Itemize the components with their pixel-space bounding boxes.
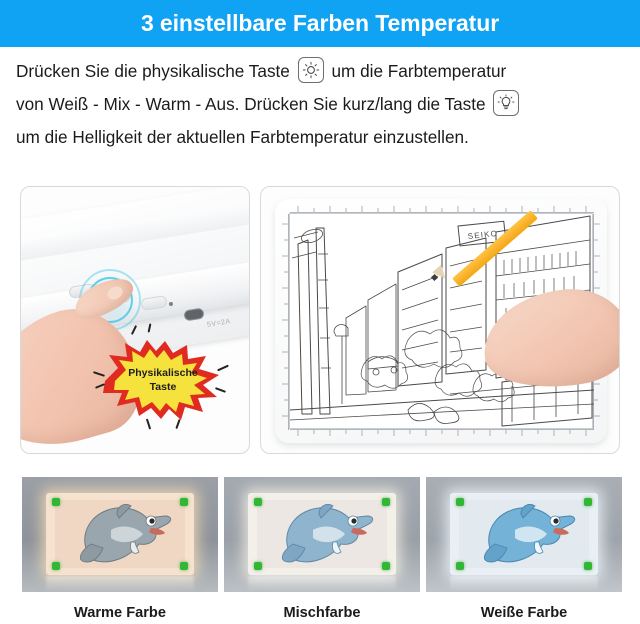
color-temperature-swatch-row: Warme Farbe bbox=[0, 477, 640, 624]
corner-clip bbox=[382, 562, 390, 570]
swatch-caption-white: Weiße Farbe bbox=[426, 605, 622, 621]
corner-clip bbox=[456, 562, 464, 570]
badge-text-line-2: Taste bbox=[150, 380, 177, 394]
description-line-1: Drücken Sie die physikalische Taste bbox=[16, 55, 632, 88]
banner-title: 3 einstellbare Farben Temperatur bbox=[141, 10, 499, 37]
dolphin-illustration bbox=[459, 500, 589, 568]
dolphin-illustration bbox=[55, 500, 185, 568]
header-banner: 3 einstellbare Farben Temperatur bbox=[0, 0, 640, 47]
swatch-photo-mixed bbox=[224, 477, 420, 592]
corner-clip bbox=[254, 498, 262, 506]
description-line-2-text-before: von Weiß - Mix - Warm - Aus. Drücken Sie… bbox=[16, 94, 486, 114]
lightbulb-icon bbox=[493, 90, 519, 116]
light-pad-mixed bbox=[248, 493, 396, 575]
ruler-bottom bbox=[290, 429, 594, 438]
light-pad-white bbox=[450, 493, 598, 575]
description-paragraph: Drücken Sie die physikalische Taste bbox=[16, 55, 632, 154]
description-line-2: von Weiß - Mix - Warm - Aus. Drücken Sie… bbox=[16, 88, 632, 121]
surface-reflection bbox=[46, 576, 194, 592]
description-line-1-text-after: um die Farbtemperatur bbox=[331, 61, 506, 81]
corner-clip bbox=[52, 498, 60, 506]
photo-panel-row: 5V=2A Physikalische Taste bbox=[0, 186, 640, 454]
corner-clip bbox=[180, 562, 188, 570]
corner-clip bbox=[584, 498, 592, 506]
swatch-caption-warm: Warme Farbe bbox=[22, 605, 218, 621]
swatch-mixed: Mischfarbe bbox=[224, 477, 420, 621]
corner-clip bbox=[584, 562, 592, 570]
ruler-top bbox=[290, 204, 594, 213]
physical-button-badge: Physikalische Taste bbox=[99, 337, 227, 423]
swatch-white: Weiße Farbe bbox=[426, 477, 622, 621]
badge-text: Physikalische Taste bbox=[99, 337, 227, 423]
corner-clip bbox=[254, 562, 262, 570]
dolphin-illustration bbox=[257, 500, 387, 568]
pad-inner-white bbox=[459, 500, 589, 568]
product-feature-image: 3 einstellbare Farben Temperatur Drücken… bbox=[0, 0, 640, 624]
corner-clip bbox=[456, 498, 464, 506]
corner-clip bbox=[180, 498, 188, 506]
description-line-3: um die Helligkeit der aktuellen Farbtemp… bbox=[16, 121, 632, 154]
surface-reflection bbox=[450, 576, 598, 592]
light-pad-warm bbox=[46, 493, 194, 575]
surface-reflection bbox=[248, 576, 396, 592]
swatch-photo-white bbox=[426, 477, 622, 592]
swatch-warm: Warme Farbe bbox=[22, 477, 218, 621]
swatch-caption-mixed: Mischfarbe bbox=[224, 605, 420, 621]
badge-text-line-1: Physikalische bbox=[128, 366, 197, 380]
pad-inner-warm bbox=[55, 500, 185, 568]
tracing-light-pad-photo: SEIKO bbox=[260, 186, 620, 454]
ruler-left bbox=[280, 214, 289, 430]
description-line-1-text-before: Drücken Sie die physikalische Taste bbox=[16, 61, 290, 81]
sun-brightness-icon bbox=[298, 57, 324, 83]
pad-inner-mixed bbox=[257, 500, 387, 568]
corner-clip bbox=[52, 562, 60, 570]
sketch-sign-text: SEIKO bbox=[467, 229, 498, 241]
physical-button-photo: 5V=2A Physikalische Taste bbox=[20, 186, 250, 454]
swatch-photo-warm bbox=[22, 477, 218, 592]
corner-clip bbox=[382, 498, 390, 506]
